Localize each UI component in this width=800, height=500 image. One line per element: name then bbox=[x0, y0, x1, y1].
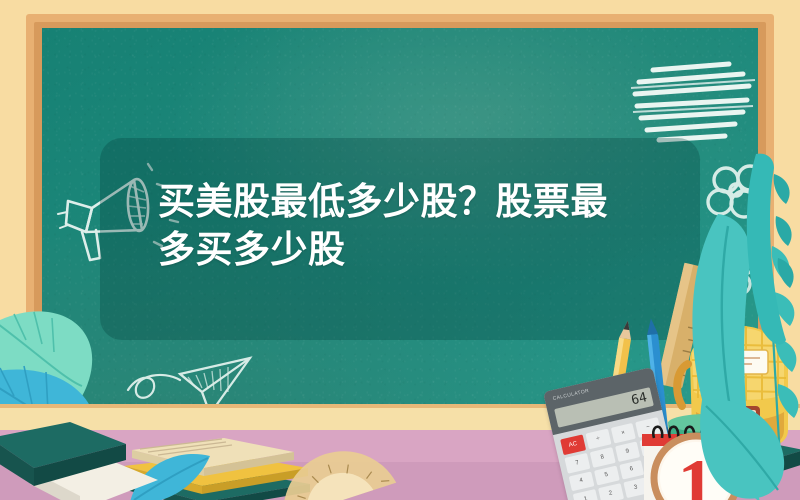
calculator-key[interactable]: 5 bbox=[594, 465, 620, 485]
calculator-key[interactable]: AC bbox=[560, 434, 586, 454]
headline-line-2: 多买多少股 bbox=[158, 229, 346, 270]
protractor-icon bbox=[268, 444, 398, 500]
calculator-key[interactable]: 2 bbox=[598, 484, 624, 500]
calculator-key[interactable]: 1 bbox=[573, 489, 599, 500]
poster-canvas: 买美股最低多少股？股票最多买多少股 bbox=[0, 0, 800, 500]
calculator-key[interactable]: ÷ bbox=[585, 429, 611, 449]
leaf-icon bbox=[692, 390, 800, 500]
leaf-icon bbox=[716, 150, 800, 350]
calculator-key[interactable]: 7 bbox=[564, 453, 590, 473]
book bbox=[0, 414, 130, 499]
calculator-key[interactable]: 8 bbox=[589, 447, 615, 467]
calculator-brand: CALCULATOR bbox=[552, 388, 590, 402]
page-title: 买美股最低多少股？股票最多买多少股 bbox=[158, 178, 658, 274]
headline-line-1: 买美股最低多少股？股票最 bbox=[158, 181, 608, 222]
calculator-key[interactable]: 4 bbox=[569, 471, 595, 491]
